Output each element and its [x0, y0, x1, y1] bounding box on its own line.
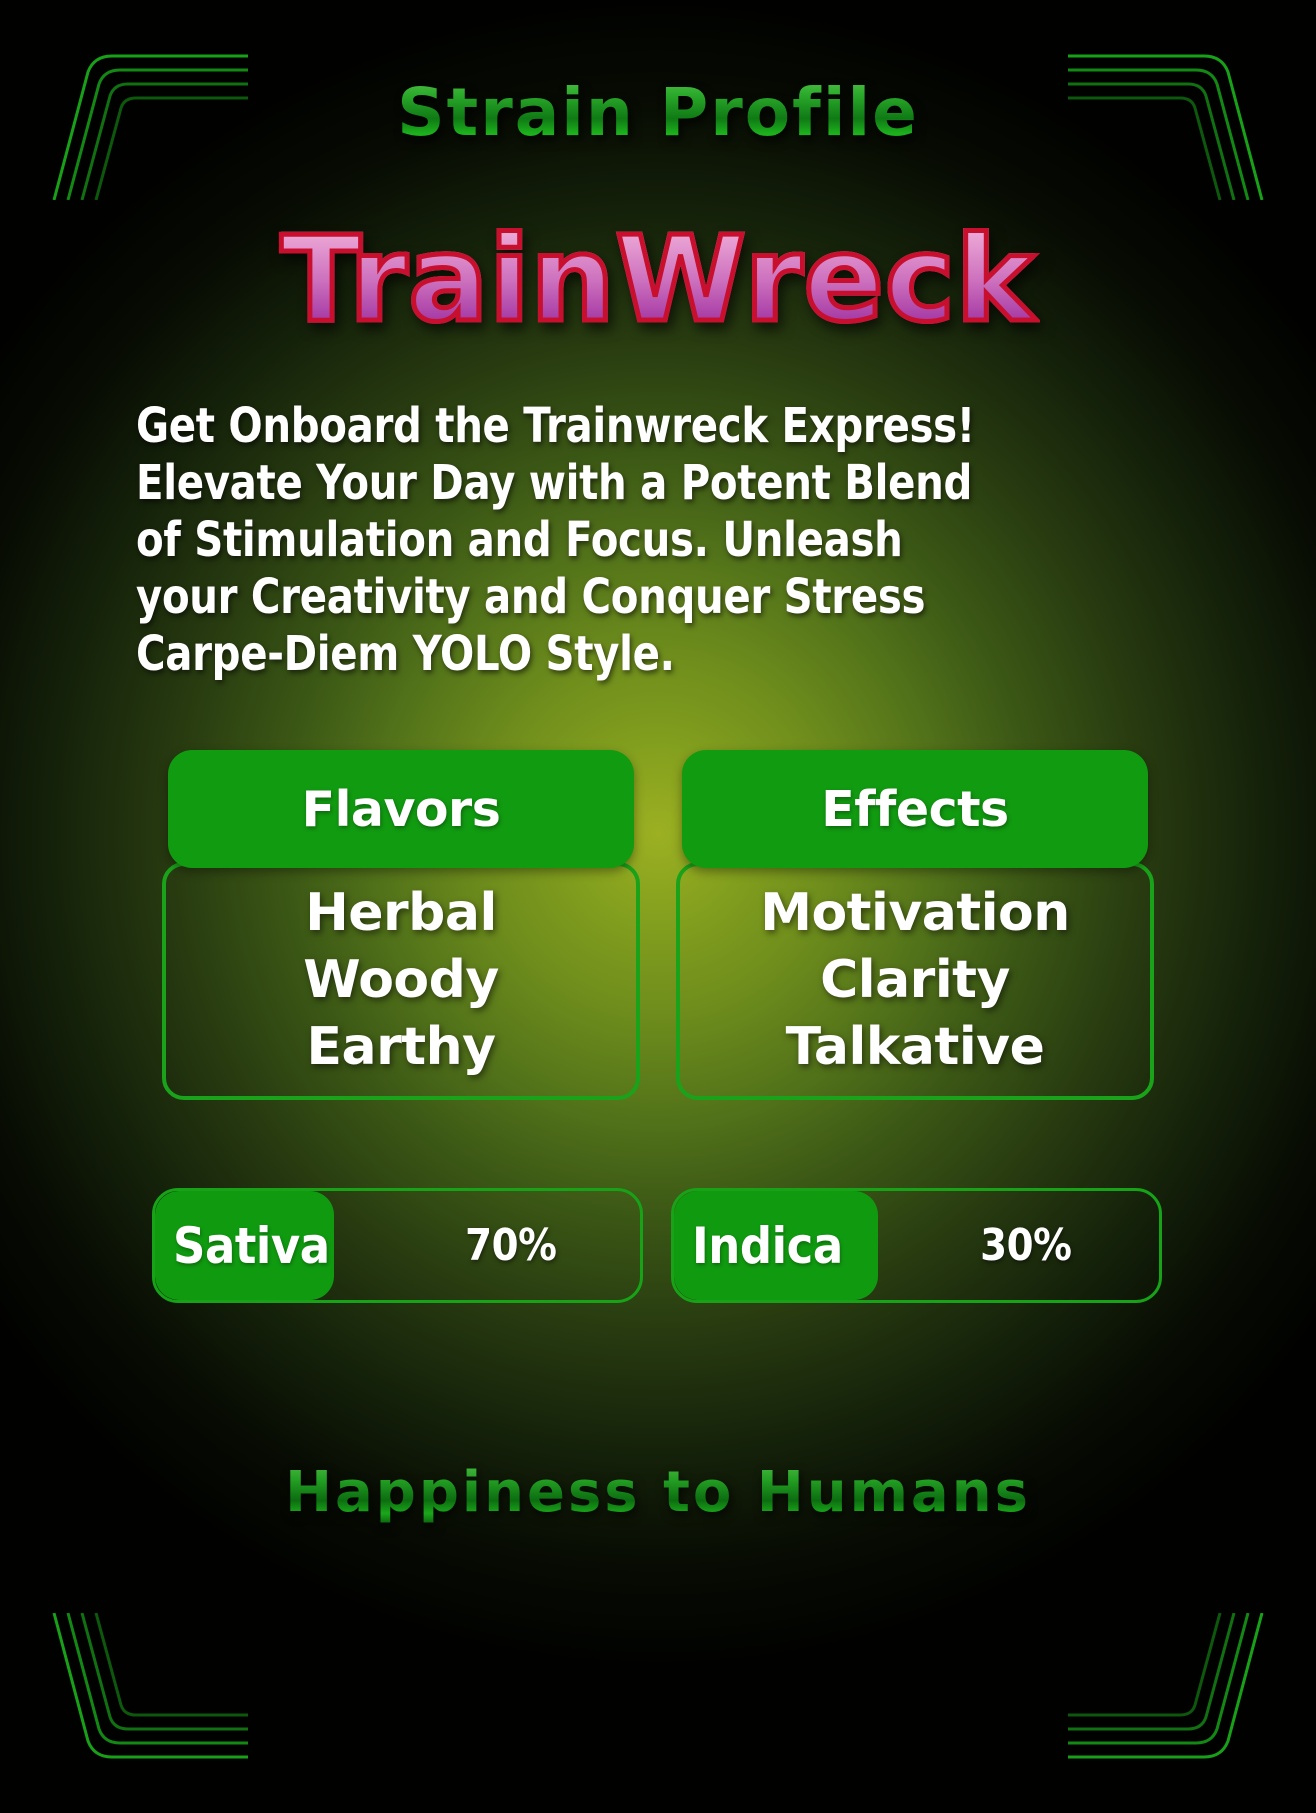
indica-value: 30% [949, 1220, 1072, 1271]
attribute-cards: Flavors Herbal Woody Earthy Effects Moti… [158, 750, 1158, 1100]
effects-card-header: Effects [682, 750, 1148, 868]
list-item: Motivation [672, 880, 1158, 947]
genetics-ratio-bars: Sativa 70% Indica 30% [152, 1188, 1162, 1303]
page-title: TrainWreck [0, 218, 1316, 342]
list-item: Woody [158, 947, 644, 1014]
description-line: your Creativity and Conquer Stress [136, 569, 976, 626]
indica-ratio-bar: Indica 30% [671, 1188, 1162, 1303]
list-item: Herbal [158, 880, 644, 947]
footer-tagline: Happiness to Humans [0, 1460, 1316, 1525]
description-line: Carpe-Diem YOLO Style. [136, 626, 976, 683]
effects-card: Effects Motivation Clarity Talkative [672, 750, 1158, 1100]
strain-name-text: TrainWreck [281, 210, 1036, 348]
effects-list: Motivation Clarity Talkative [672, 880, 1158, 1081]
strain-profile-poster: Strain Profile TrainWreck Get Onboard th… [0, 0, 1316, 1813]
corner-ornament-bottom-left-icon [48, 1613, 248, 1763]
flavors-card-title: Flavors [302, 781, 501, 838]
list-item: Clarity [672, 947, 1158, 1014]
description-line: Get Onboard the Trainwreck Express! [136, 398, 976, 455]
flavors-card-header: Flavors [168, 750, 634, 868]
description-line: of Stimulation and Focus. Unleash [136, 512, 976, 569]
corner-ornament-bottom-right-icon [1068, 1613, 1268, 1763]
flavors-list: Herbal Woody Earthy [158, 880, 644, 1081]
sativa-ratio-bar: Sativa 70% [152, 1188, 643, 1303]
sativa-value: 70% [433, 1220, 556, 1271]
sativa-label: Sativa [155, 1217, 330, 1275]
page-kicker: Strain Profile [0, 74, 1316, 151]
effects-card-title: Effects [821, 781, 1008, 838]
list-item: Talkative [672, 1014, 1158, 1081]
list-item: Earthy [158, 1014, 644, 1081]
flavors-card: Flavors Herbal Woody Earthy [158, 750, 644, 1100]
description-line: Elevate Your Day with a Potent Blend [136, 455, 976, 512]
indica-label: Indica [674, 1217, 843, 1275]
strain-description: Get Onboard the Trainwreck Express! Elev… [136, 398, 976, 683]
